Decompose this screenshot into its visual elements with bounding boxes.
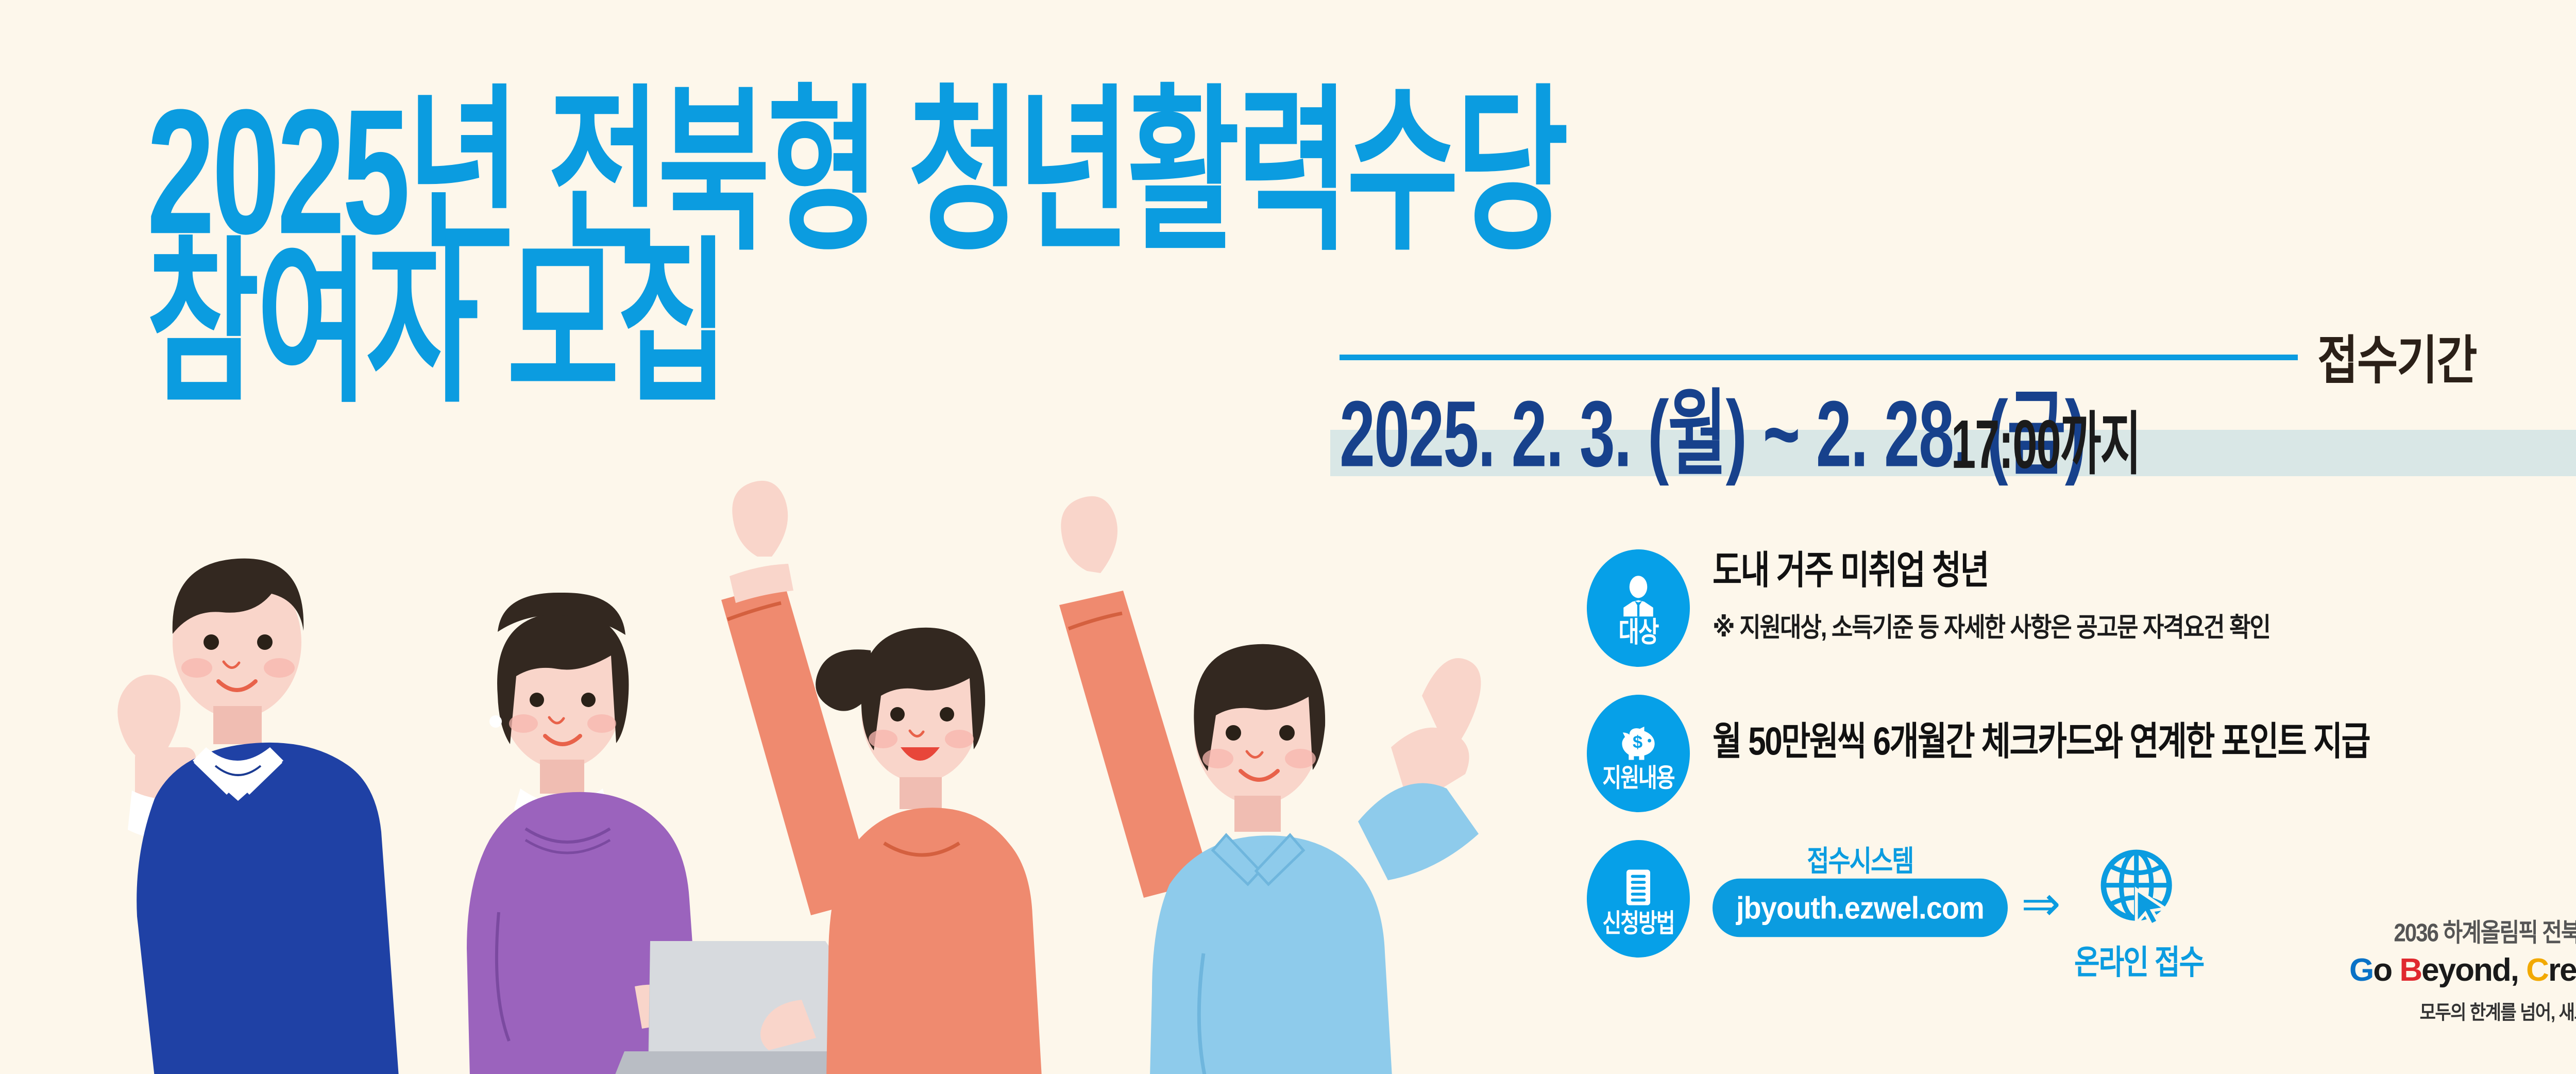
page-title: 2025년 전북형 청년활력수당 참여자 모집 (147, 77, 2208, 366)
svg-text:$: $ (1633, 733, 1642, 752)
badge-apply: 신청방법 (1587, 840, 1690, 958)
promo-banner: 2025년 전북형 청년활력수당 참여자 모집 접수기간 2025. 2. 3.… (0, 0, 2576, 1074)
info-note-target: ※ 지원대상, 소득기준 등 자세한 사항은 공고문 자격요건 확인 (1713, 606, 2270, 644)
document-lines-icon (1615, 864, 1662, 911)
globe-cursor-icon (2095, 844, 2183, 932)
info-title-target: 도내 거주 미취업 청년 (1713, 550, 2270, 591)
info-row-support: $ 지원내용 월 50만원씩 6개월간 체크카드와 연계한 포인트 지급 (1587, 692, 2576, 812)
info-body-support: 월 50만원씩 6개월간 체크카드와 연계한 포인트 지급 (1713, 692, 2369, 755)
apply-system-col: 접수시스템 jbyouth.ezwel.com (1713, 837, 2008, 935)
deadline-time: 17:00까지 (1951, 389, 2140, 488)
application-url-pill[interactable]: jbyouth.ezwel.com (1713, 879, 2008, 937)
arrow-right-icon: ⇒ (2021, 880, 2061, 928)
info-body-target: 도내 거주 미취업 청년 ※ 지원대상, 소득기준 등 자세한 사항은 공고문 … (1713, 546, 2270, 639)
person-suit-icon (1615, 572, 1662, 619)
figure-man-blue-sweater (117, 559, 399, 1074)
olympic-top-line: 2036 하계올림픽 전북 유치 기원 (2349, 912, 2576, 949)
online-apply-col: 온라인 접수 (2074, 844, 2204, 976)
badge-support-label: 지원내용 (1602, 765, 1674, 791)
figure-man-lightblue-thumbsup (1059, 496, 1481, 1074)
info-body-apply: 접수시스템 jbyouth.ezwel.com ⇒ (1713, 837, 2204, 976)
badge-target-label: 대상 (1619, 619, 1658, 647)
illustration-svg (0, 479, 1577, 1074)
piggy-bank-icon: $ (1615, 718, 1662, 766)
period-label: 접수기간 (2317, 317, 2476, 394)
info-title-support: 월 50만원씩 6개월간 체크카드와 연계한 포인트 지급 (1713, 721, 2369, 762)
application-period-block: 접수기간 2025. 2. 3. (월) ~ 2. 28. (금) 17:00까… (1340, 325, 2576, 475)
badge-apply-label: 신청방법 (1602, 911, 1674, 936)
badge-support: $ 지원내용 (1587, 695, 1690, 812)
online-apply-label: 온라인 접수 (2074, 935, 2204, 984)
olympic-slogan: Go Beyond, Create Harmony (2349, 952, 2576, 988)
people-illustration (0, 479, 1577, 1074)
info-row-target: 대상 도내 거주 미취업 청년 ※ 지원대상, 소득기준 등 자세한 사항은 공… (1587, 546, 2576, 667)
badge-target: 대상 (1587, 549, 1690, 667)
olympic-sub-line: 모두의 한계를 넘어, 새로운 조화 (2349, 997, 2576, 1025)
period-dates: 2025. 2. 3. (월) ~ 2. 28. (금) 17:00까지 (1340, 398, 2576, 475)
system-label: 접수시스템 (1807, 837, 1913, 880)
olympic-bid-slogan: 2036 하계올림픽 전북 유치 기원 Go Beyond, Create Ha… (2349, 912, 2576, 1022)
